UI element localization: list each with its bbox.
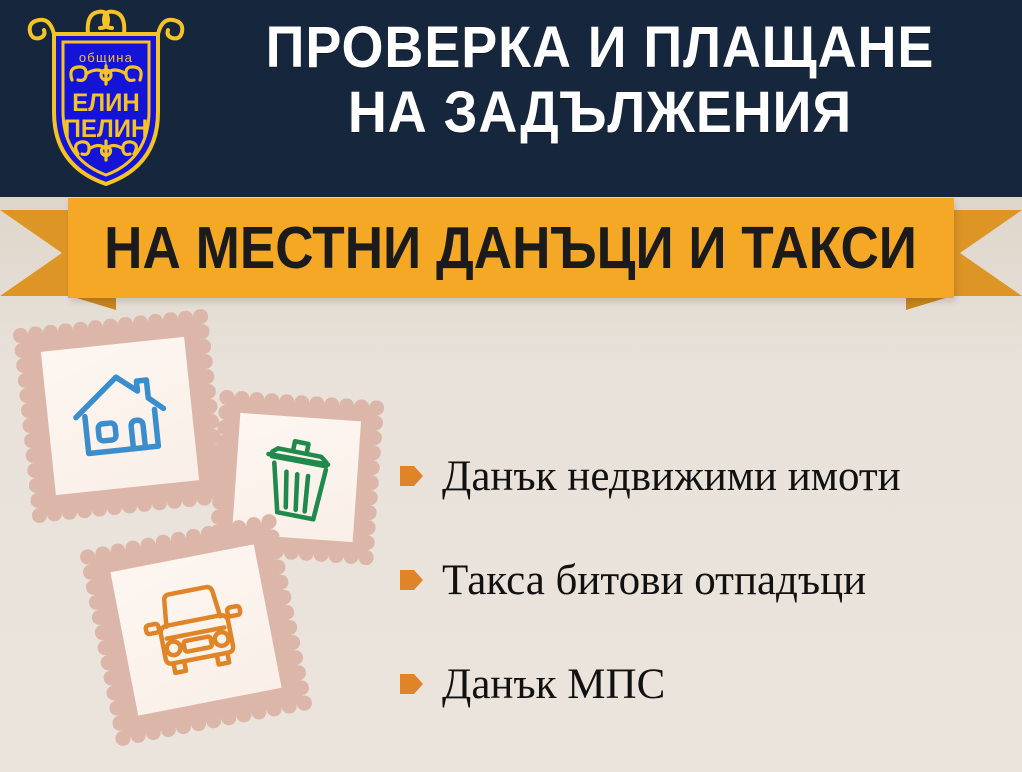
list-item-label: Данък МПС	[442, 663, 665, 706]
page-title-line-2: НА ЗАДЪЛЖЕНИЯ	[219, 81, 982, 146]
ribbon-fold-right	[906, 296, 952, 310]
page-title: ПРОВЕРКА И ПЛАЩАНЕ НА ЗАДЪЛЖЕНИЯ	[219, 16, 982, 146]
ribbon-fold-left	[70, 296, 116, 310]
house-icon	[65, 361, 175, 471]
stamp-card-property	[12, 308, 227, 523]
svg-text:ЕЛИН: ЕЛИН	[72, 90, 139, 118]
poster-canvas: община ЕЛИН ПЕЛИН	[0, 0, 1022, 772]
stamp-card-vehicle	[79, 513, 313, 747]
list-item[interactable]: Данък недвижими имоти	[400, 424, 1010, 528]
arrow-bullet-icon	[400, 463, 424, 489]
municipality-logo: община ЕЛИН ПЕЛИН	[26, 4, 186, 190]
ribbon-label: НА МЕСТНИ ДАНЪЦИ И ТАКСИ	[105, 219, 918, 278]
header-bar: община ЕЛИН ПЕЛИН	[0, 0, 1022, 197]
arrow-bullet-icon	[400, 671, 424, 697]
tax-type-list: Данък недвижими имоти Такса битови отпад…	[400, 424, 1010, 736]
ribbon-band: НА МЕСТНИ ДАНЪЦИ И ТАКСИ	[68, 198, 954, 298]
trash-bin-icon	[253, 430, 341, 524]
page-title-line-1: ПРОВЕРКА И ПЛАЩАНЕ	[219, 16, 982, 81]
svg-text:ПЕЛИН: ПЕЛИН	[64, 116, 149, 144]
list-item-label: Данък недвижими имоти	[442, 455, 901, 498]
list-item-label: Такса битови отпадъци	[442, 559, 866, 602]
list-item[interactable]: Данък МПС	[400, 632, 1010, 736]
car-front-icon	[136, 573, 254, 685]
list-item[interactable]: Такса битови отпадъци	[400, 528, 1010, 632]
arrow-bullet-icon	[400, 567, 424, 593]
subtitle-ribbon: НА МЕСТНИ ДАНЪЦИ И ТАКСИ	[0, 198, 1022, 308]
svg-text:община: община	[79, 50, 133, 65]
